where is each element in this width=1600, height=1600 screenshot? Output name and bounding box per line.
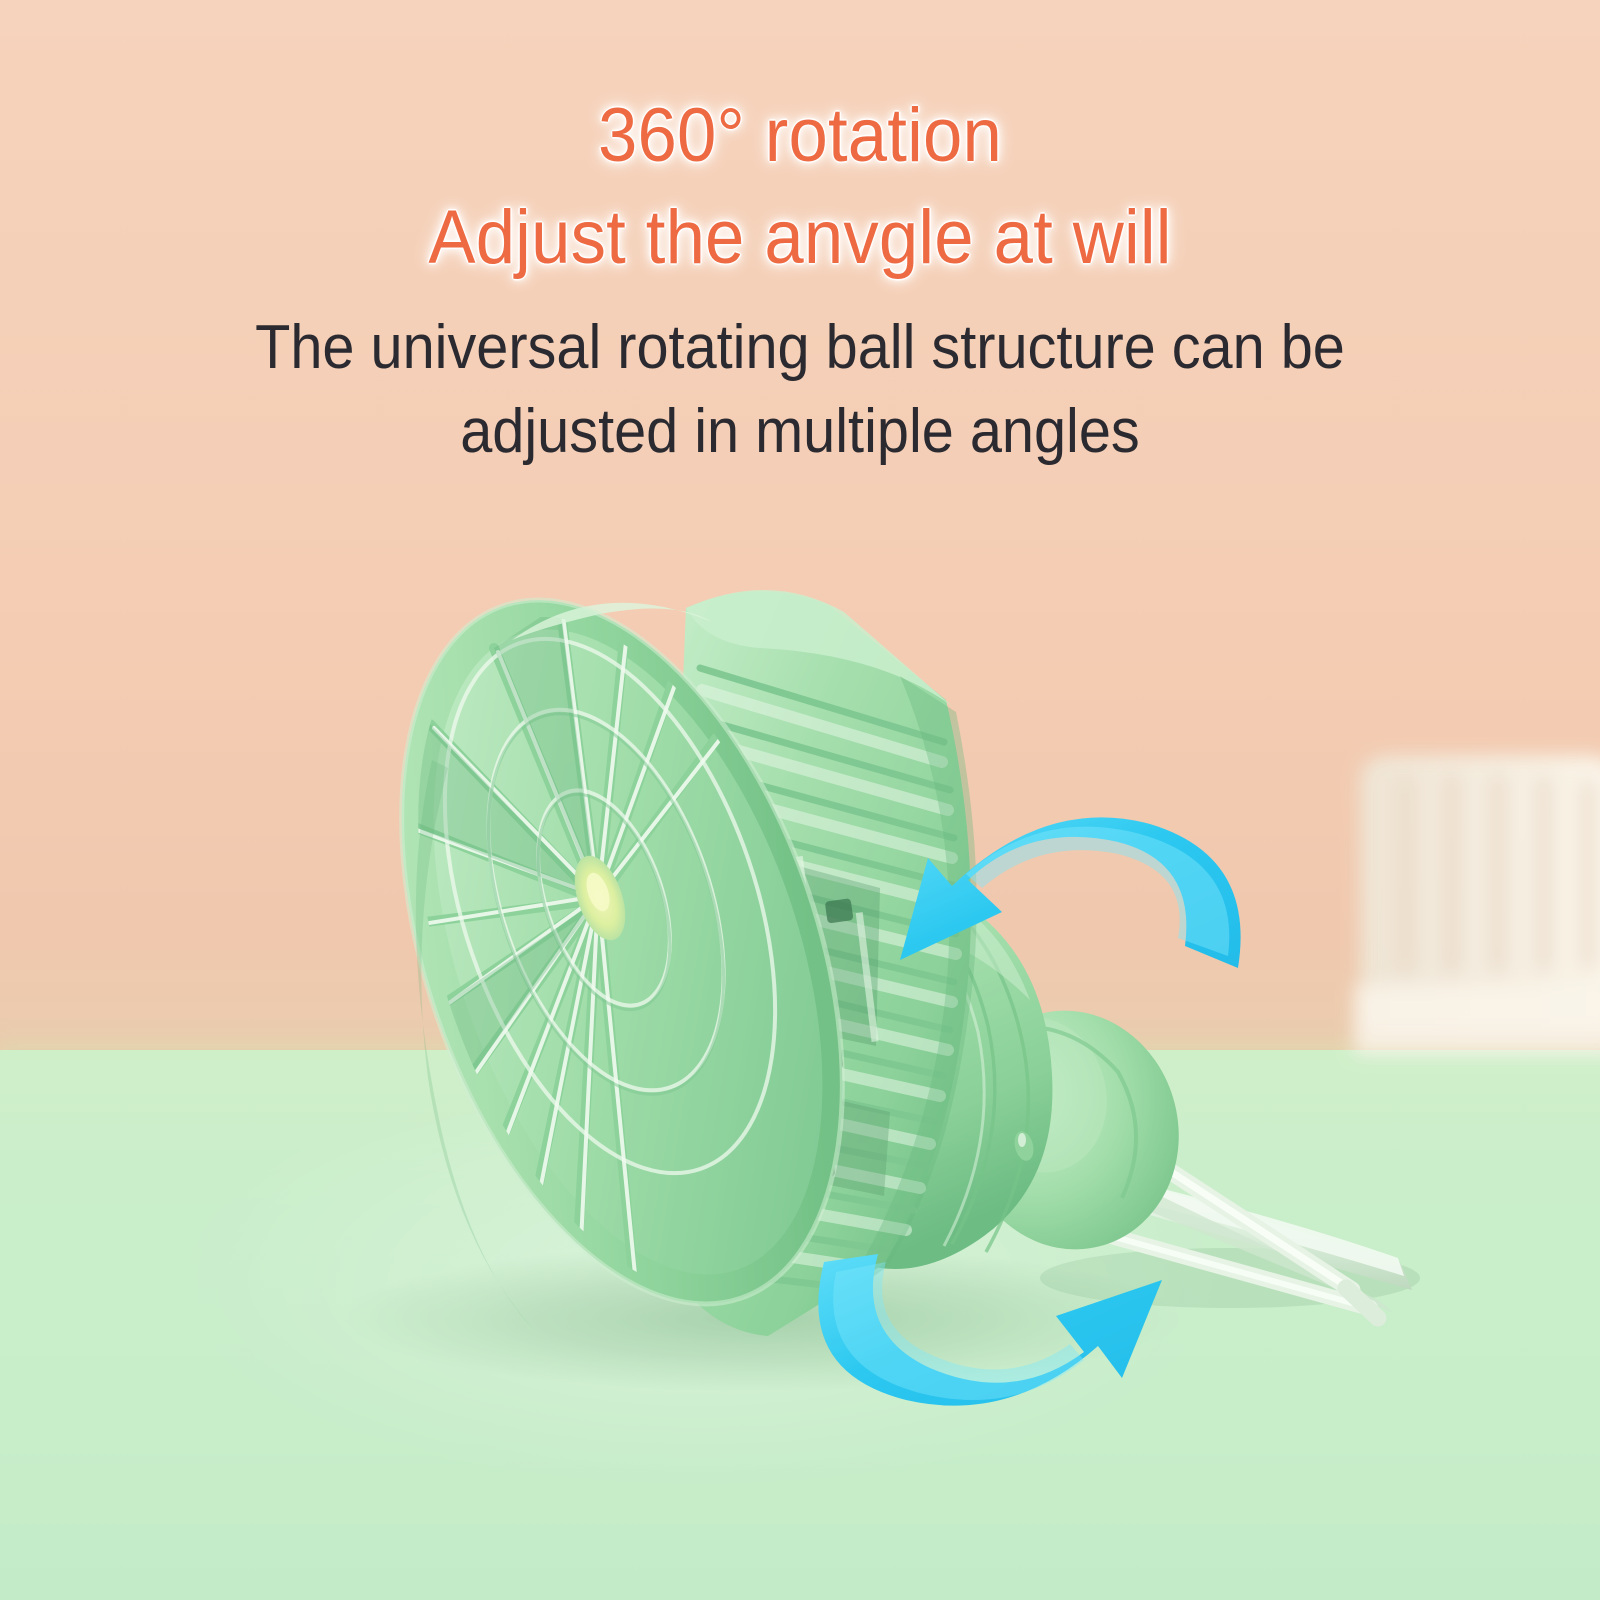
subtitle-line-1: The universal rotating ball structure ca… [56, 306, 1544, 390]
headline-line-2: Adjust the anvgle at will [56, 184, 1544, 292]
subtitle-line-2: adjusted in multiple angles [56, 390, 1544, 474]
product-marketing-image: 360° rotation Adjust the anvgle at will … [0, 0, 1600, 1600]
marketing-copy: 360° rotation Adjust the anvgle at will … [0, 0, 1600, 474]
headline-line-1: 360° rotation [56, 82, 1544, 190]
